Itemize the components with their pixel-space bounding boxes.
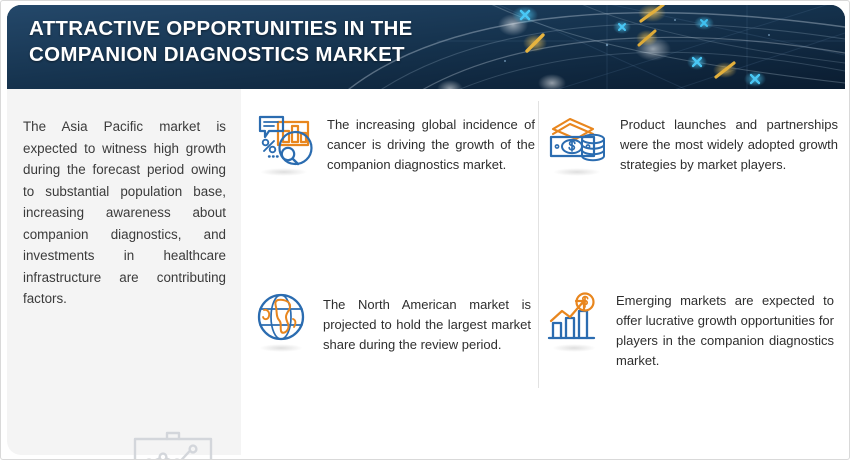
insight-card-north-america: The North American market is projected t…: [253, 289, 536, 355]
icon-shadow: [260, 168, 308, 176]
insight-card-product-launches: Product launches and partnerships were t…: [546, 111, 838, 175]
insight-card-text: The North American market is projected t…: [323, 289, 531, 355]
presentation-board-analytics-icon: [125, 425, 229, 460]
region-summary-paragraph: The Asia Pacific market is expected to w…: [23, 116, 226, 310]
insights-panel: The increasing global incidence of cance…: [241, 89, 845, 455]
column-divider: [538, 101, 539, 388]
insight-card-text: Product launches and partnerships were t…: [620, 111, 838, 175]
page-title: ATTRACTIVE OPPORTUNITIES IN THE COMPANIO…: [29, 16, 499, 68]
region-label: ASIA PACIFIC: [0, 307, 2, 447]
icon-shadow: [553, 168, 601, 176]
globe-icon: [253, 289, 309, 345]
insight-card-cancer-incidence: The increasing global incidence of cance…: [253, 111, 536, 175]
left-region-panel: The Asia Pacific market is expected to w…: [7, 89, 241, 455]
money-cash-coins-icon: [546, 111, 608, 169]
infographic-frame: ATTRACTIVE OPPORTUNITIES IN THE COMPANIO…: [0, 0, 850, 460]
cancer-incidence-analytics-icon: [253, 111, 315, 169]
growth-bar-chart-dollar-icon: [546, 289, 602, 345]
header-banner: ATTRACTIVE OPPORTUNITIES IN THE COMPANIO…: [7, 5, 845, 89]
insight-card-emerging-markets: Emerging markets are expected to offer l…: [546, 289, 838, 371]
icon-shadow: [552, 344, 596, 352]
icon-shadow: [259, 344, 303, 352]
insight-card-text: Emerging markets are expected to offer l…: [616, 289, 834, 371]
insight-card-text: The increasing global incidence of cance…: [327, 111, 535, 175]
